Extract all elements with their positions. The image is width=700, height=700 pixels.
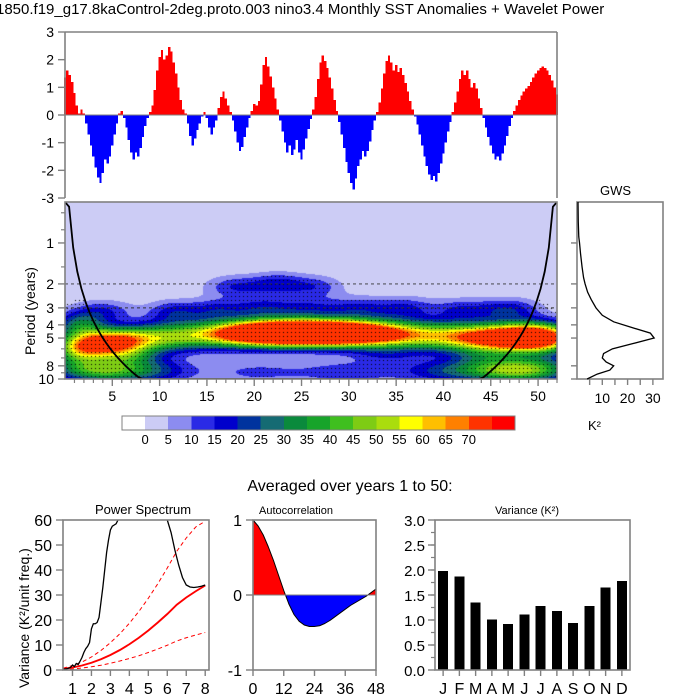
wavelet-ylabel: Period (years) — [22, 267, 38, 355]
svg-text:2: 2 — [87, 681, 96, 698]
variance-bar — [536, 606, 546, 670]
autocorrelation-title: Autocorrelation — [259, 505, 333, 517]
gws-curve — [578, 202, 654, 379]
timeseries-panel: 3210-1-2-3 — [0, 20, 600, 208]
gws-unit-label: K² — [588, 418, 601, 433]
svg-text:35: 35 — [388, 388, 404, 404]
variance-bar — [471, 603, 481, 671]
timeseries-y-axis: 3210-1-2-3 — [42, 24, 65, 206]
svg-text:5: 5 — [108, 388, 116, 404]
gws-plot: 102030 — [571, 202, 663, 406]
power-spectrum-title: Power Spectrum — [95, 502, 191, 517]
svg-text:40: 40 — [323, 432, 337, 447]
svg-text:12: 12 — [275, 681, 293, 698]
svg-text:O: O — [583, 681, 595, 698]
svg-text:10: 10 — [595, 390, 611, 406]
svg-text:A: A — [487, 681, 498, 698]
svg-text:30: 30 — [34, 588, 52, 605]
svg-text:15: 15 — [207, 432, 221, 447]
colorbar-ticks: 0510152025303540455055606570 — [142, 432, 476, 447]
sst-anomaly-bars — [64, 47, 558, 189]
autocorrelation-y-axis: 10-1 — [228, 513, 253, 680]
autocorrelation-x-axis: 012243648 — [249, 670, 385, 698]
svg-text:-1: -1 — [228, 663, 242, 680]
svg-text:40: 40 — [436, 388, 452, 404]
svg-text:F: F — [454, 681, 464, 698]
svg-text:2.0: 2.0 — [404, 563, 425, 580]
svg-text:30: 30 — [645, 390, 661, 406]
svg-text:40: 40 — [34, 563, 52, 580]
svg-text:1.0: 1.0 — [404, 613, 425, 630]
variance-bar — [454, 577, 464, 671]
svg-text:10: 10 — [152, 388, 168, 404]
gws-panel: 102030 — [565, 182, 700, 412]
wavelet-x-axis: 5101520253035404550 — [74, 379, 557, 404]
gws-title: GWS — [600, 183, 631, 198]
svg-text:A: A — [552, 681, 563, 698]
svg-text:1.5: 1.5 — [404, 588, 425, 605]
svg-text:30: 30 — [277, 432, 291, 447]
svg-text:5: 5 — [144, 681, 153, 698]
svg-text:7: 7 — [182, 681, 191, 698]
power-spectrum-y-axis: 6050403020100 — [34, 513, 63, 680]
variance-bar — [568, 623, 578, 670]
svg-text:3.0: 3.0 — [404, 513, 425, 530]
svg-text:0: 0 — [249, 681, 258, 698]
svg-text:65: 65 — [438, 432, 452, 447]
variance-x-axis: JFMAMJJASOND — [439, 670, 628, 698]
svg-text:55: 55 — [392, 432, 406, 447]
svg-text:10: 10 — [38, 371, 54, 387]
svg-text:20: 20 — [620, 390, 636, 406]
svg-text:50: 50 — [530, 388, 546, 404]
power-spectrum-plot: 605040302010012345678 — [34, 505, 210, 698]
svg-text:3: 3 — [46, 300, 54, 316]
svg-text:10: 10 — [184, 432, 198, 447]
svg-text:0: 0 — [43, 663, 52, 680]
svg-text:36: 36 — [336, 681, 354, 698]
svg-text:50: 50 — [369, 432, 383, 447]
svg-text:N: N — [600, 681, 612, 698]
svg-text:70: 70 — [462, 432, 476, 447]
svg-text:D: D — [616, 681, 628, 698]
autocorrelation-plot: 10-1012243648 — [228, 513, 385, 698]
svg-text:1: 1 — [46, 79, 54, 95]
variance-bar — [601, 588, 611, 671]
svg-text:25: 25 — [253, 432, 267, 447]
svg-text:8: 8 — [201, 681, 210, 698]
colorbar: 0510152025303540455055606570 — [100, 414, 560, 448]
svg-text:0.5: 0.5 — [404, 638, 425, 655]
variance-title: Variance (K²) — [495, 505, 559, 517]
svg-text:24: 24 — [306, 681, 324, 698]
svg-text:50: 50 — [34, 538, 52, 555]
wavelet-panel: 123458105101520253035404550 — [0, 196, 600, 411]
variance-panel: 3.02.52.01.51.00.50.0JFMAMJJASOND — [390, 500, 650, 700]
svg-text:2.5: 2.5 — [404, 538, 425, 555]
bottom-section-title: Averaged over years 1 to 50: — [0, 478, 700, 496]
svg-text:6: 6 — [163, 681, 172, 698]
timeseries-plot: 3210-1-2-3 — [42, 24, 559, 206]
colorbar-swatches — [122, 416, 515, 430]
power-spectrum-panel: 605040302010012345678 — [0, 500, 215, 700]
variance-bar — [584, 606, 594, 670]
gws-x-axis: 102030 — [590, 379, 661, 406]
power-spectrum-x-axis: 12345678 — [68, 670, 210, 698]
svg-text:45: 45 — [346, 432, 360, 447]
svg-text:5: 5 — [46, 330, 54, 346]
variance-bar — [617, 581, 627, 670]
svg-text:4: 4 — [125, 681, 134, 698]
svg-text:60: 60 — [34, 513, 52, 530]
svg-text:0: 0 — [233, 588, 242, 605]
autocorrelation-panel: 10-1012243648 — [215, 500, 395, 700]
svg-text:20: 20 — [246, 388, 262, 404]
wavelet-y-axis: 12345810 — [38, 213, 65, 387]
variance-bar — [503, 624, 513, 670]
svg-text:0: 0 — [142, 432, 149, 447]
svg-text:S: S — [568, 681, 579, 698]
svg-text:-2: -2 — [42, 162, 55, 178]
svg-text:35: 35 — [300, 432, 314, 447]
svg-text:5: 5 — [165, 432, 172, 447]
power-spectrum-ylabel: Variance (K²/unit freq.) — [16, 548, 32, 688]
svg-text:1: 1 — [233, 513, 242, 530]
svg-text:J: J — [439, 681, 447, 698]
svg-text:2: 2 — [46, 52, 54, 68]
variance-bar — [519, 615, 529, 671]
svg-text:1: 1 — [46, 235, 54, 251]
svg-text:-1: -1 — [42, 135, 55, 151]
svg-text:3: 3 — [46, 24, 54, 40]
variance-bar — [552, 611, 562, 670]
svg-text:20: 20 — [230, 432, 244, 447]
page-title: 1850.f19_g17.8kaControl-2deg.proto.003 n… — [0, 1, 604, 18]
svg-text:30: 30 — [341, 388, 357, 404]
svg-text:M: M — [469, 681, 482, 698]
svg-text:20: 20 — [34, 613, 52, 630]
variance-y-axis: 3.02.52.01.51.00.50.0 — [404, 513, 435, 680]
svg-text:0.0: 0.0 — [404, 663, 425, 680]
variance-bar — [487, 620, 497, 671]
svg-text:10: 10 — [34, 638, 52, 655]
variance-plot: 3.02.52.01.51.00.50.0JFMAMJJASOND — [404, 513, 630, 698]
variance-bar — [438, 571, 448, 670]
wavelet-power-plot: 123458105101520253035404550 — [38, 202, 557, 404]
svg-text:J: J — [520, 681, 528, 698]
svg-text:15: 15 — [199, 388, 215, 404]
svg-text:25: 25 — [294, 388, 310, 404]
svg-text:3: 3 — [106, 681, 115, 698]
svg-text:M: M — [501, 681, 514, 698]
svg-text:60: 60 — [415, 432, 429, 447]
svg-text:48: 48 — [367, 681, 385, 698]
svg-text:45: 45 — [483, 388, 499, 404]
svg-text:0: 0 — [46, 107, 54, 123]
svg-text:J: J — [537, 681, 545, 698]
wavelet-contour-field — [65, 202, 557, 379]
svg-text:1: 1 — [68, 681, 77, 698]
svg-text:2: 2 — [46, 276, 54, 292]
